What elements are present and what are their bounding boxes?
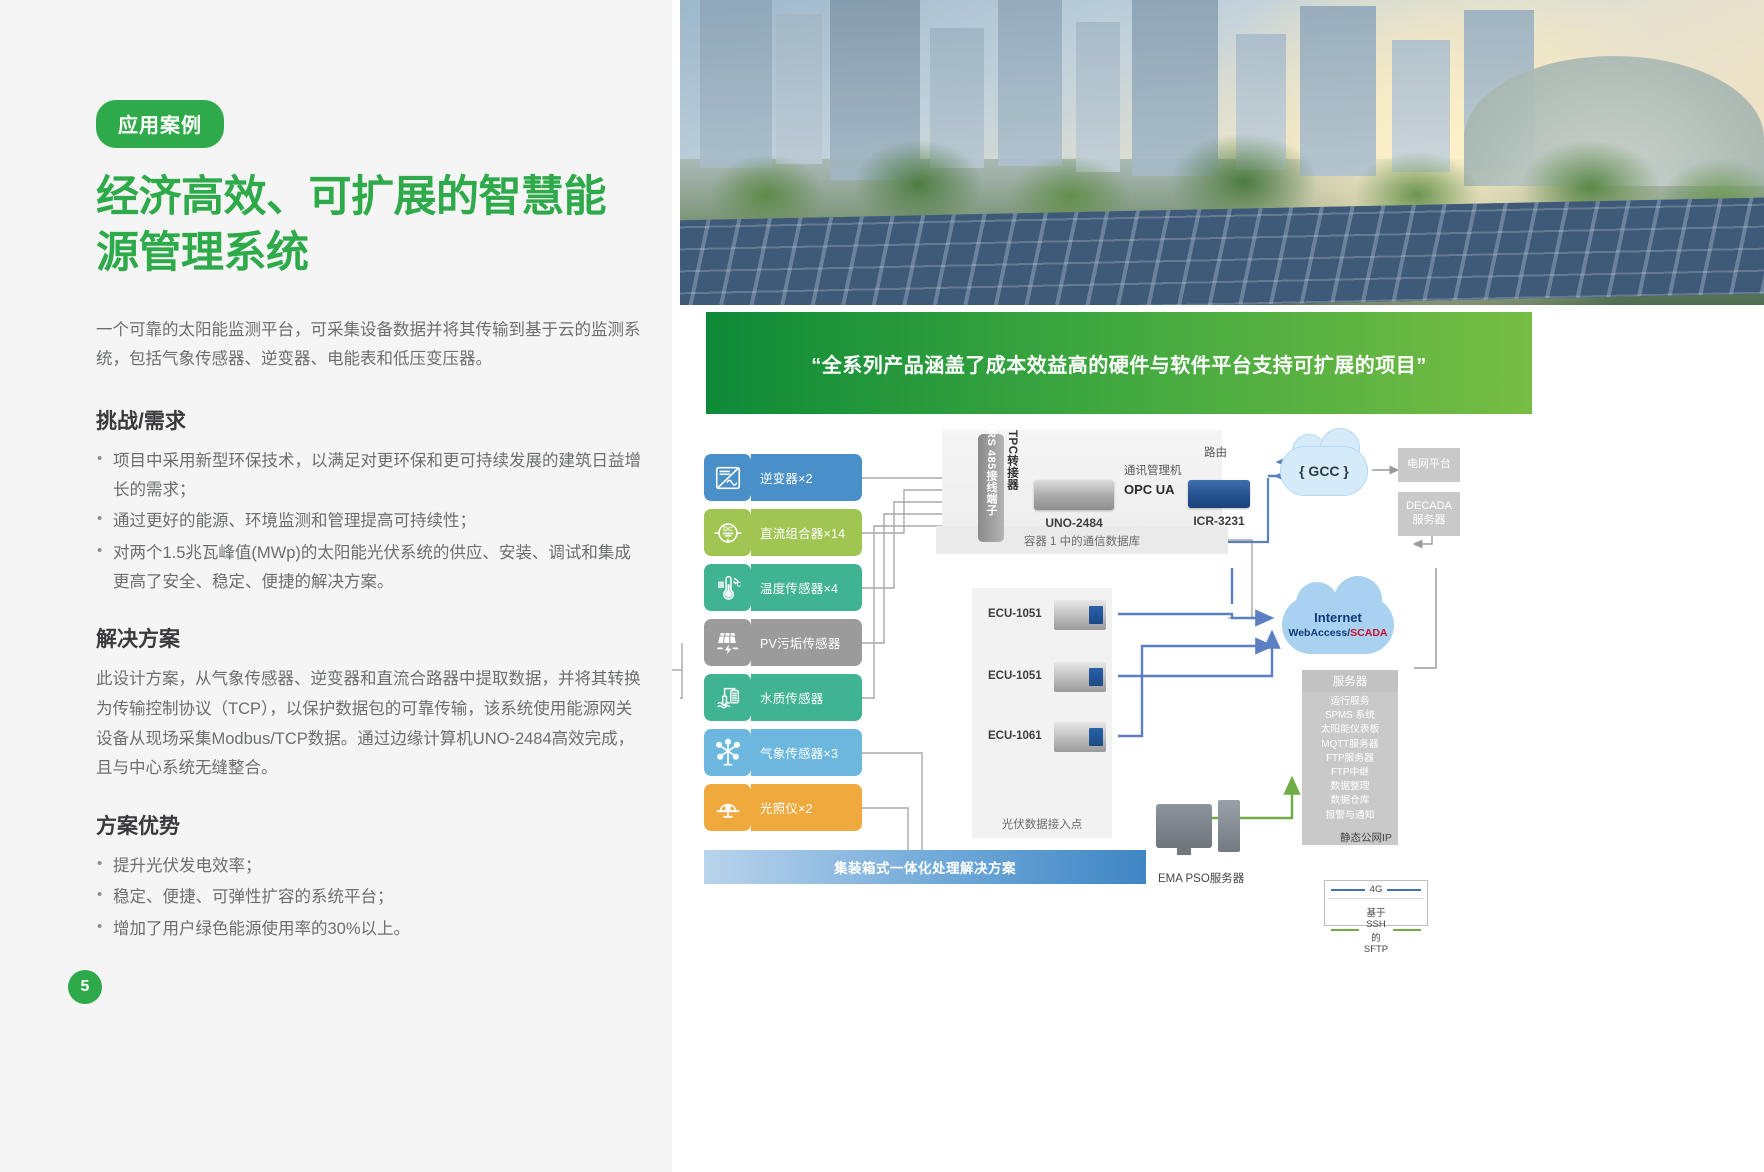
- ecu-label: ECU-1061: [988, 730, 1042, 742]
- list-item: MQTT服务器: [1302, 738, 1398, 752]
- server-service-list: 运行服务 SPMS 系统 太阳能仪表板 MQTT服务器 FTP服务器 FTP中继…: [1302, 692, 1398, 826]
- webaccess-label: WebAccess/: [1288, 627, 1350, 639]
- section-title-challenges: 挑战/需求: [96, 405, 642, 435]
- architecture-diagram: 容器 1 中的通信数据库 光伏数据接入点 逆变器×2: [672, 418, 1764, 958]
- chip-pyranometer[interactable]: 光照仪×2: [704, 784, 862, 831]
- chip-label: 温度传感器×4: [751, 564, 862, 611]
- inverter-icon: [704, 454, 751, 501]
- list-item: 提升光伏发电效率；: [96, 852, 642, 881]
- solution-paragraph: 此设计方案，从气象传感器、逆变器和直流合路器中提取数据，并将其转换为传输控制协议…: [96, 665, 641, 784]
- ema-pso-server-label: EMA PSO服务器: [1158, 870, 1244, 886]
- case-study-badge: 应用案例: [96, 100, 224, 148]
- chip-label: PV污垢传感器: [751, 619, 862, 666]
- decada-line-2: 服务器: [1413, 514, 1446, 528]
- chip-dc-combiner[interactable]: DC 直流组合器×14: [704, 509, 862, 556]
- list-item: 稳定、便捷、可弹性扩容的系统平台；: [96, 883, 642, 912]
- benefits-list: 提升光伏发电效率； 稳定、便捷、可弹性扩容的系统平台； 增加了用户绿色能源使用率…: [96, 852, 642, 944]
- grid-platform-box: 电网平台: [1398, 448, 1460, 482]
- server-stack-header: 服务器: [1302, 670, 1398, 692]
- ecu-device: [1054, 600, 1106, 630]
- list-item: 运行服务: [1302, 695, 1398, 709]
- pv-access-caption: 光伏数据接入点: [972, 816, 1112, 832]
- list-item: FTP中继: [1302, 766, 1398, 780]
- section-title-benefits: 方案优势: [96, 810, 642, 840]
- page-number: 5: [68, 970, 102, 1004]
- list-item: 太阳能仪表板: [1302, 723, 1398, 737]
- list-item: 增加了用户绿色能源使用率的30%以上。: [96, 915, 642, 944]
- ecu-label: ECU-1051: [988, 608, 1042, 620]
- list-item: 数据整理: [1302, 780, 1398, 794]
- lead-paragraph: 一个可靠的太阳能监测平台，可采集设备数据并将其传输到基于云的监测系统，包括气象传…: [96, 316, 641, 375]
- chip-pv-soiling-sensor[interactable]: PV污垢传感器: [704, 619, 862, 666]
- list-item: 报警与通知: [1302, 809, 1398, 823]
- diagram-legend: 4G 基于SSH的SFTP: [1324, 880, 1428, 926]
- legend-line-4g: [1331, 889, 1365, 891]
- page-root: 应用案例 经济高效、可扩展的智慧能源管理系统 一个可靠的太阳能监测平台，可采集设…: [0, 0, 1764, 1172]
- chip-label: 直流组合器×14: [751, 509, 862, 556]
- scada-label: SCADA: [1350, 627, 1387, 639]
- ecu-device: [1054, 722, 1106, 752]
- challenges-list: 项目中采用新型环保技术，以满足对更环保和更可持续发展的建筑日益增长的需求； 通过…: [96, 447, 642, 598]
- chip-temperature-sensor[interactable]: ℃ 温度传感器×4: [704, 564, 862, 611]
- temperature-icon: ℃: [704, 564, 751, 611]
- chip-label: 水质传感器: [751, 674, 862, 721]
- monitor-stand: [1177, 848, 1191, 855]
- device-chip-list: 逆变器×2 DC 直流组合器×14: [704, 454, 862, 839]
- list-item: 对两个1.5兆瓦峰值(MWp)的太阳能光伏系统的供应、安装、调试和集成更高了安全…: [96, 539, 642, 598]
- tpc-adapter-label: TPC转接器: [1004, 430, 1020, 491]
- page-title: 经济高效、可扩展的智慧能源管理系统: [96, 170, 642, 282]
- list-item: SPMS 系统: [1302, 709, 1398, 723]
- static-ip-label: 静态公网IP: [1340, 830, 1392, 845]
- comm-manager-label: 通讯管理机: [1124, 462, 1182, 478]
- container-solution-label: 集装箱式一体化处理解决方案: [834, 857, 1016, 877]
- ecu-device: [1054, 662, 1106, 692]
- list-item: 项目中采用新型环保技术，以满足对更环保和更可持续发展的建筑日益增长的需求；: [96, 447, 642, 506]
- chip-water-quality-sensor[interactable]: 水质传感器: [704, 674, 862, 721]
- list-item: 通过更好的能源、环境监测和管理提高可持续性；: [96, 507, 642, 536]
- tower-icon: [1218, 800, 1240, 852]
- legend-line-sftp: [1331, 929, 1359, 931]
- right-visual-column: “全系列产品涵盖了成本效益高的硬件与软件平台支持可扩展的项目”: [672, 0, 1764, 1172]
- list-item: FTP服务器: [1302, 752, 1398, 766]
- ecu-label: ECU-1051: [988, 670, 1042, 682]
- legend-label-4g: 4G: [1370, 884, 1383, 895]
- gcc-cloud-label: { GCC }: [1280, 446, 1368, 496]
- uno-2484-device: [1034, 480, 1114, 510]
- rs485-label: RS 485接线端子: [980, 430, 1002, 542]
- water-quality-icon: [704, 674, 751, 721]
- list-item: 数据仓库: [1302, 794, 1398, 808]
- weather-sensor-icon: [704, 729, 751, 776]
- svg-text:DC: DC: [723, 526, 733, 533]
- pv-soiling-icon: [704, 619, 751, 666]
- chip-weather-sensor[interactable]: 气象传感器×3: [704, 729, 862, 776]
- opc-ua-label: OPC UA: [1124, 482, 1175, 497]
- pyranometer-icon: [704, 784, 751, 831]
- grid-platform-label: 电网平台: [1407, 458, 1451, 472]
- left-text-column: 应用案例 经济高效、可扩展的智慧能源管理系统 一个可靠的太阳能监测平台，可采集设…: [0, 0, 672, 1172]
- quote-banner: “全系列产品涵盖了成本效益高的硬件与软件平台支持可扩展的项目”: [706, 312, 1532, 414]
- legend-label-sftp: 基于SSH的SFTP: [1364, 905, 1388, 955]
- server-stack: 服务器 运行服务 SPMS 系统 太阳能仪表板 MQTT服务器 FTP服务器 F…: [1302, 670, 1398, 845]
- monitor-icon: [1156, 804, 1212, 848]
- dc-combiner-icon: DC: [704, 509, 751, 556]
- chip-label: 逆变器×2: [751, 454, 862, 501]
- section-title-solution: 解决方案: [96, 623, 642, 653]
- uno-2484-label: UNO-2484: [1024, 516, 1124, 530]
- decada-server-box: DECADA 服务器: [1398, 492, 1460, 536]
- svg-text:℃: ℃: [734, 581, 741, 588]
- chip-label: 光照仪×2: [751, 784, 862, 831]
- icr-3231-device: [1188, 480, 1250, 508]
- internet-label: Internet: [1282, 610, 1394, 625]
- quote-text: “全系列产品涵盖了成本效益高的硬件与软件平台支持可扩展的项目”: [791, 349, 1447, 378]
- chip-inverter[interactable]: 逆变器×2: [704, 454, 862, 501]
- decada-line-1: DECADA: [1406, 500, 1452, 514]
- icr-3231-label: ICR-3231: [1176, 514, 1262, 528]
- container-solution-bar: 集装箱式一体化处理解决方案: [704, 850, 1146, 884]
- internet-cloud: Internet WebAccess/SCADA: [1282, 596, 1394, 654]
- gcc-cloud: { GCC }: [1280, 446, 1368, 496]
- hero-photo: [680, 0, 1764, 305]
- chip-label: 气象传感器×3: [751, 729, 862, 776]
- router-label: 路由: [1204, 444, 1227, 460]
